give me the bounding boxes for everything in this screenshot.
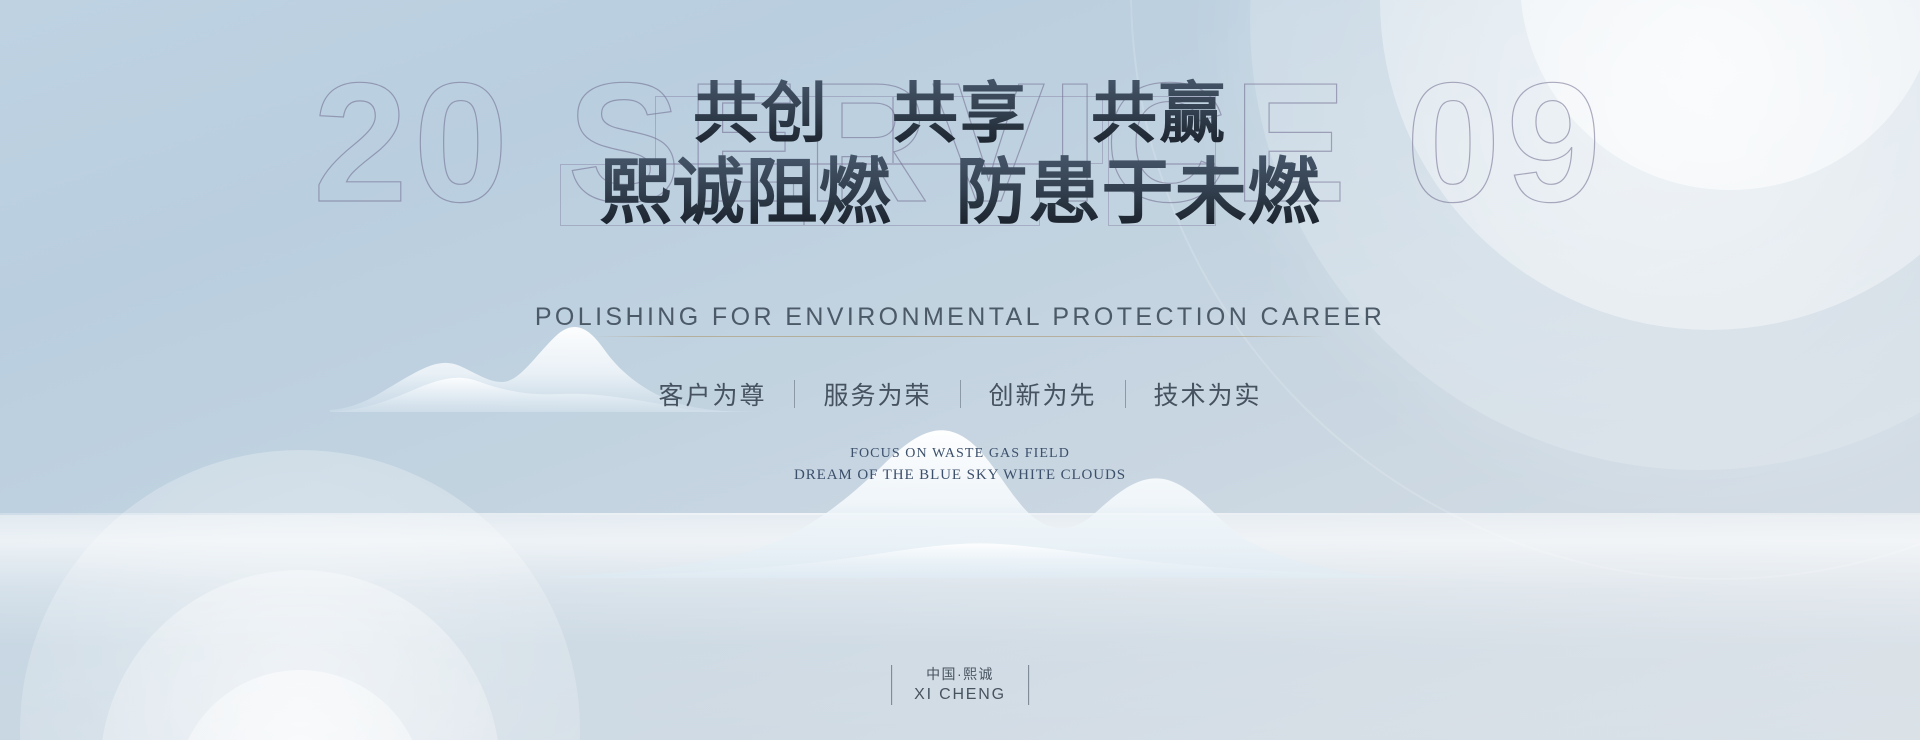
- signature-bar-right: [1028, 665, 1029, 705]
- headline-word-5: 防患于未燃: [956, 153, 1321, 233]
- subtitle-underline: [592, 336, 1328, 337]
- headline-word-4: 熙诚阻燃: [599, 153, 891, 233]
- headline-line-1: 共创 共享 共赢: [0, 76, 1920, 154]
- headline-word-2: 共享: [892, 78, 1028, 151]
- signature-bar-left: [891, 665, 892, 705]
- slogan-row: 客户为尊 服务为荣 创新为先 技术为实: [0, 376, 1920, 412]
- subtitle-text: POLISHING FOR ENVIRONMENTAL PROTECTION C…: [0, 303, 1920, 332]
- slogan-item-3: 创新为先: [961, 376, 1125, 412]
- signature-en: XI CHENG: [914, 684, 1006, 705]
- signature-cn: 中国·熙诚: [914, 664, 1006, 684]
- signature-text: 中国·熙诚 XI CHENG: [914, 664, 1006, 705]
- serif-tagline-line-1: FOCUS ON WASTE GAS FIELD: [0, 444, 1920, 464]
- headline-line-2: 熙诚阻燃 防患于未燃: [0, 154, 1920, 232]
- slogan-item-1: 客户为尊: [630, 376, 794, 412]
- serif-tagline-block: FOCUS ON WASTE GAS FIELD DREAM OF THE BL…: [0, 444, 1920, 486]
- horizon-band: [0, 515, 1920, 740]
- slogan-item-4: 技术为实: [1126, 376, 1290, 412]
- headline-word-3: 共赢: [1091, 78, 1227, 151]
- poster-canvas: 20 SERVICE 09 共创 共享 共赢 熙诚阻燃 防患于未燃: [0, 0, 1920, 740]
- headline-word-1: 共创: [693, 78, 829, 151]
- horizon-line: [0, 513, 1920, 515]
- brand-signature: 中国·熙诚 XI CHENG: [891, 664, 1029, 705]
- serif-tagline-line-2: DREAM OF THE BLUE SKY WHITE CLOUDS: [0, 464, 1920, 486]
- headline: 共创 共享 共赢 熙诚阻燃 防患于未燃: [0, 76, 1920, 232]
- slogan-item-2: 服务为荣: [795, 376, 959, 412]
